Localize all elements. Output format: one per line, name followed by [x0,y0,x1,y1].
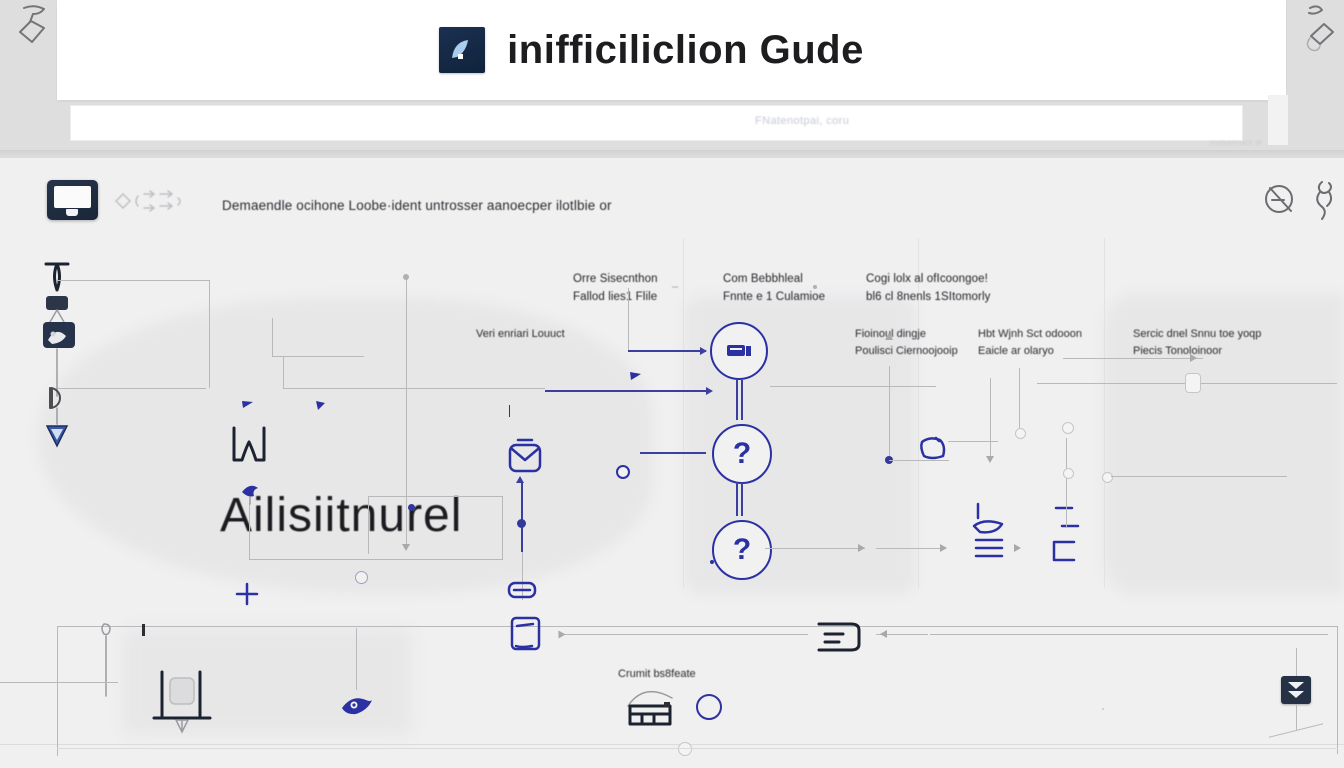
brief-line-down [521,482,523,552]
right-arrow-left [858,544,865,552]
conn-h-a [272,356,364,357]
right-ring-2 [1062,422,1074,434]
wrench-icon[interactable] [1308,178,1340,224]
sub-label-2-line2: Poulisci Ciernoojooip [855,345,958,357]
bot-v-dl-bot [1296,704,1297,730]
right-capsule-ring [1185,373,1201,393]
frame-icon [96,620,118,700]
plus-icon [233,580,261,608]
column-label-3-line1: Cogi lolx al ofIcoongoe! [866,273,988,285]
conn-v-c [249,503,250,559]
sub-label-3-line1: Hbt Wjnh Sct odooon [978,328,1082,340]
node-out-line [770,386,936,387]
brief-stub [509,405,510,417]
column-label-3: Cogi lolx al ofIcoongoe! bl6 cl 8nenls 1… [866,270,991,306]
sub-label-1: Veri enriari Louuct [476,326,565,343]
url-bar[interactable] [70,105,1243,141]
rail-line-2 [58,388,206,389]
bot-h-footer [57,748,1338,749]
bot-v-dl-top [1296,648,1297,676]
card-list-icon [813,618,865,656]
arrow-dot-3 [616,465,630,479]
bracket-icon [1048,504,1082,566]
circle-icon [696,694,722,720]
network-nodes-icon [104,186,188,216]
column-label-2: Com Bebbhleal Fnnte e 1 Culamioe [723,270,825,306]
building-icon [622,680,680,728]
conn-h-d [368,496,503,497]
url-placeholder-text: FNatenotpai, coru [755,115,849,127]
column-label-1-line2: Fallod lies1 Flile [573,288,658,306]
right-h-mid [1111,476,1287,477]
column-sep-dash: – [672,279,678,296]
arrow-line-3 [640,452,706,454]
briefcase-icon [504,433,546,477]
bird-icon-2 [338,690,376,724]
conn-v-b [283,356,284,388]
browser-content: inifficiliclion Gude [57,0,1286,100]
browser-scroll-gutter[interactable] [1268,95,1288,145]
conn-v-a [272,318,273,356]
node-question-2[interactable]: ? [712,520,772,580]
gallery-icon [150,658,222,730]
flag-icon-1 [240,398,256,414]
no-search-icon[interactable] [1258,178,1304,224]
column-label-2-line2: Fnnte e 1 Culamioe [723,288,825,306]
watermark-text: inizhanciark W [1210,140,1263,147]
right-v-1 [889,366,890,460]
node-question-2-glyph: ? [733,533,751,567]
monitor-app-icon[interactable] [47,180,98,220]
bot-h-main [57,626,1338,627]
arrow-line-2 [545,390,711,392]
bot-v-2 [1337,626,1338,754]
column-label-2-line1: Com Bebbhleal [723,273,803,285]
app-root: inifficiliclion Gude FNatenotpai, coru i… [0,0,1344,768]
capsule-icon [505,576,539,602]
sketch-lamp-icon [14,2,58,48]
conn-v-long [406,276,407,546]
bird-icon [238,478,264,504]
node-question-1-glyph: ? [733,437,751,471]
conn-dot-top [403,274,409,280]
tray-icon [968,500,1014,564]
node-conn-1b [741,380,743,420]
conn-v-e [368,496,369,554]
right-v-2 [990,378,991,458]
right-arrow-right [940,544,947,552]
right-h-top [1063,358,1203,359]
right-h-3 [765,548,865,549]
diagram-canvas: Ailisiitnurel Orre Sisecnthon Fallod lie… [0,238,1344,768]
right-arrow-top [1190,354,1197,362]
right-v-3 [1019,368,1020,428]
left-rail [38,256,90,466]
column-divider-3 [1104,238,1105,588]
column-divider-1 [683,238,684,588]
right-ring-3 [1063,468,1074,479]
app-swoosh-logo-icon [439,27,485,73]
column-label-1: Orre Sisecnthon Fallod lies1 Flile [573,270,658,306]
toolbar-caption: Demaendle ocihone Loobe·ident untrosser … [222,198,612,213]
sub-label-3-line2: Eaicle ar olaryo [978,345,1054,357]
arrow-head-1 [700,347,707,355]
bottom-divider [0,744,1344,745]
sub-label-3: Hbt Wjnh Sct odooon Eaicle ar olaryo [978,326,1082,360]
conn-arrow-down [402,544,410,551]
right-arrow-down [986,456,994,463]
conn-h-b [283,388,545,389]
sub-label-2: Fioinoul dingje Poulisci Ciernoojooip [855,326,958,360]
sub-label-4: Sercic dnel Snnu toe yoqp Piecis Tonoloi… [1133,326,1261,360]
letter-m-icon [228,422,270,466]
node-conn-2a [736,482,738,516]
column-sep-dot [813,285,817,289]
rail-line-3 [209,280,210,388]
bot-h-left [0,682,118,683]
sub-label-4-line1: Sercic dnel Snnu toe yoqp [1133,328,1261,340]
arrow-line-1 [628,350,706,352]
bot-v-bird [356,628,357,690]
right-ring-1 [1015,428,1026,439]
node-conn-2b [741,482,743,516]
node-question-1[interactable]: ? [712,424,772,484]
sub-label-4-line2: Piecis Tonoloinoor [1133,345,1222,357]
bot-arrow-book [559,631,566,639]
flag-icon-3 [628,370,644,384]
conn-node-dot [355,571,368,584]
right-arrow-up [885,333,893,340]
right-v-4 [1066,438,1067,528]
page-title: inifficiliclion Gude [507,28,864,73]
bot-arrow-card [880,630,887,638]
conn-dot-blue [408,504,415,511]
column-label-3-line2: bl6 cl 8nenls 1SItomorly [866,288,991,306]
bot-ring-center [678,742,692,756]
right-h-4 [876,548,946,549]
column-label-1-line1: Orre Sisecnthon [573,273,658,285]
brand-row: inifficiliclion Gude [57,0,1286,100]
browser-frame: inifficiliclion Gude FNatenotpai, coru i… [0,0,1344,158]
arrow-head-2 [706,387,713,395]
bot-v-1 [57,626,58,756]
sketch-plug-icon [1300,2,1336,60]
toolbar [0,158,1344,239]
conn-h-c [249,559,503,560]
bot-h-right [930,634,1328,635]
right-arrow-right2 [1014,544,1021,552]
flag-icon-2 [313,398,329,414]
conn-v-d [502,496,503,560]
node-card[interactable] [710,322,768,380]
bot-h-book [560,634,808,635]
download-icon[interactable] [1281,676,1311,704]
node-conn-1a [736,380,738,420]
brief-mid-dot [517,519,526,528]
bot-tick [142,624,145,636]
book-icon [508,614,544,654]
right-ring-4 [1102,472,1113,483]
band-shadow [0,150,1344,158]
arrow-feed-1 [628,288,629,350]
right-h-2 [948,441,998,442]
note-icon [914,432,952,466]
rail-line-1 [58,280,210,281]
